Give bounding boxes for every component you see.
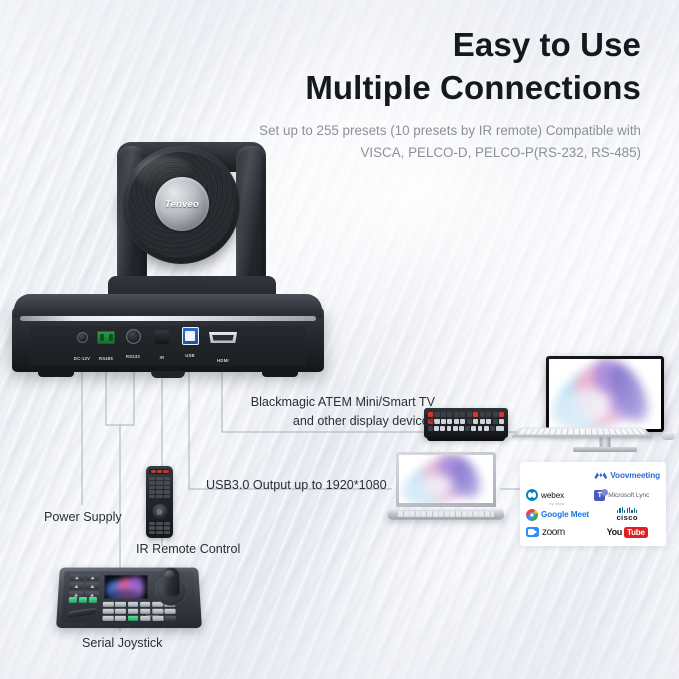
serial-joystick-controller: Tenveo <box>58 566 200 628</box>
joystick-body: Tenveo <box>56 568 202 628</box>
hdmi-icon <box>209 332 237 343</box>
logo-label-youtube-you: You <box>607 527 622 537</box>
camera-foot-right <box>262 370 298 377</box>
joystick-knob <box>162 568 180 596</box>
ir-remote-dpad <box>152 504 167 519</box>
youtube-logo-wrap: You Tube <box>607 527 648 538</box>
logo-zoom: zoom <box>526 523 591 541</box>
logo-google-meet: Google Meet <box>526 506 591 524</box>
usb-b-icon <box>182 327 199 345</box>
annotation-usb-output: USB3.0 Output up to 1920*1080 <box>206 478 387 492</box>
port-usb: USB <box>180 327 200 347</box>
ir-receiver-icon <box>155 330 169 344</box>
logo-cisco: cisco <box>594 506 660 524</box>
infographic-canvas: Easy to Use Multiple Connections Set up … <box>0 0 679 679</box>
joystick-arrow-buttons <box>69 574 100 598</box>
laptop-screen <box>399 455 493 503</box>
joystick-brand-logo: Tenveo <box>146 614 160 618</box>
camera-lens-housing: Tenveo <box>122 146 240 264</box>
monitor-bezel <box>546 356 664 432</box>
camera-foot-left <box>38 370 74 377</box>
logo-label-webex: webex <box>541 491 564 500</box>
logo-label-google-meet: Google Meet <box>541 510 589 519</box>
voovmeeting-icon <box>594 471 607 480</box>
ir-remote-body <box>146 466 173 538</box>
ir-remote-keypad-top <box>149 477 170 498</box>
joystick-lcd-screen <box>104 575 148 599</box>
ir-remote-power-row <box>149 469 170 474</box>
atem-button-row-3 <box>428 426 504 431</box>
laptop-base <box>387 509 505 519</box>
logo-webex: webex by cisco <box>526 485 591 506</box>
compatible-software-panel: Voovmeeting webex by cisco Microsoft Lyn… <box>520 462 666 546</box>
atem-button-row-1 <box>428 412 504 417</box>
port-label-hdmi: HDMI <box>217 358 229 363</box>
camera-bottom-notch <box>151 371 185 378</box>
annotation-power-supply: Power Supply <box>44 510 122 524</box>
monitor-screen <box>549 359 661 429</box>
joystick-faceplate: Tenveo <box>61 571 196 623</box>
logo-label-microsoft-lync: Microsoft Lync <box>608 492 649 499</box>
port-label-usb: USB <box>185 353 195 358</box>
zoom-icon <box>526 527 539 537</box>
camera-body-top <box>14 294 322 318</box>
camera-lens-gloss <box>136 156 194 190</box>
atem-mini-switcher <box>424 408 508 438</box>
port-label-rs485: RS485 <box>99 356 113 361</box>
annotation-atem-line-2: and other display devices <box>251 412 435 431</box>
logo-youtube: You Tube <box>594 523 660 541</box>
atem-base <box>427 437 505 441</box>
port-label-dc: DC-12V <box>74 356 90 361</box>
annotation-atem-line-1: Blackmagic ATEM Mini/Smart TV <box>251 393 435 412</box>
logo-microsoft-lync: Microsoft Lync <box>594 485 660 506</box>
monitor-wallpaper <box>549 359 661 429</box>
dc-jack-icon <box>77 332 88 343</box>
rs232-din-icon <box>126 329 141 344</box>
annotation-ir-remote: IR Remote Control <box>136 542 240 556</box>
laptop-wallpaper <box>399 455 493 503</box>
microsoft-lync-icon <box>594 490 605 501</box>
laptop <box>388 452 504 520</box>
logo-label-zoom: zoom <box>542 527 565 538</box>
logo-label-cisco: cisco <box>616 514 637 522</box>
port-rs232: RS232 <box>124 328 142 346</box>
port-label-ir: IR <box>160 355 165 360</box>
annotation-serial-joystick: Serial Joystick <box>82 636 162 650</box>
desktop-mouse <box>662 432 675 440</box>
ir-remote-keypad-bottom <box>149 522 170 534</box>
logo-label-voovmeeting: Voovmeeting <box>610 471 660 480</box>
logo-label-webex-group: webex by cisco <box>541 485 564 506</box>
laptop-lid <box>396 452 496 507</box>
atem-button-row-2 <box>428 419 504 424</box>
logo-label-youtube-tube: Tube <box>624 527 648 538</box>
port-hdmi: HDMI <box>208 332 238 346</box>
ir-remote <box>146 466 173 538</box>
atem-body <box>424 408 508 438</box>
cisco-logo-wrap: cisco <box>616 507 637 522</box>
annotation-atem: Blackmagic ATEM Mini/Smart TV and other … <box>251 393 435 431</box>
camera-brand-logo: Tenveo <box>165 199 199 210</box>
port-dc-12v: DC-12V <box>74 330 90 346</box>
port-label-rs232: RS232 <box>126 354 140 359</box>
smart-tv-monitor <box>546 356 664 432</box>
webex-icon <box>526 489 538 501</box>
monitor-foot <box>573 447 637 452</box>
logo-voovmeeting: Voovmeeting <box>594 467 660 485</box>
rs485-terminal-icon <box>97 331 115 344</box>
port-rs485: RS485 <box>96 330 116 346</box>
joystick-side-strip <box>68 608 97 618</box>
camera-chrome-trim <box>20 316 316 321</box>
joystick-function-buttons <box>69 597 97 603</box>
google-meet-icon <box>526 509 538 521</box>
port-ir: IR <box>154 329 170 345</box>
